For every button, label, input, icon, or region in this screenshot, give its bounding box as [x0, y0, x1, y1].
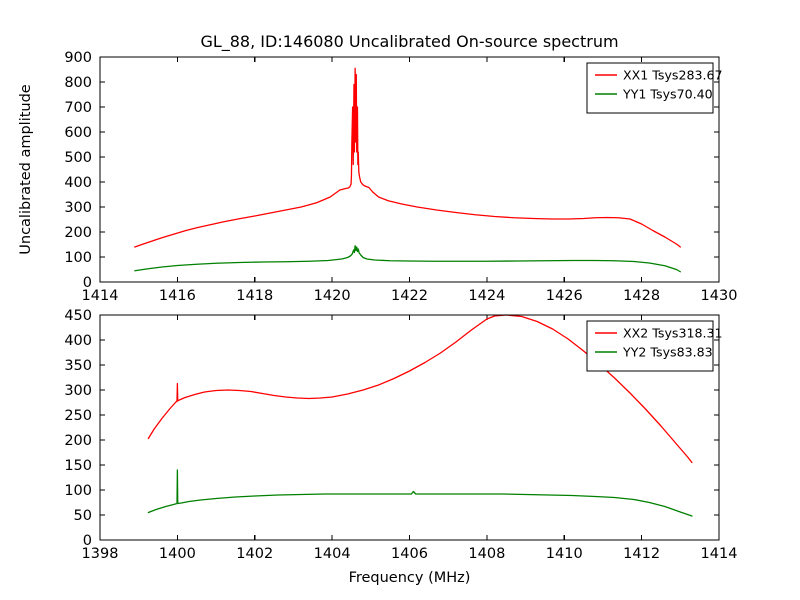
y-tick-label: 450 [64, 308, 92, 324]
x-axis-label: Frequency (MHz) [349, 570, 471, 586]
y-tick-label: 900 [64, 50, 92, 66]
x-tick-label: 1418 [236, 288, 273, 304]
legend-label: YY1 Tsys70.40 [622, 87, 713, 102]
legend-label: YY2 Tsys83.83 [622, 345, 713, 360]
x-tick-label: 1428 [623, 288, 660, 304]
top-panel-legend[interactable]: XX1 Tsys283.67YY1 Tsys70.40 [587, 63, 723, 113]
x-tick-label: 1406 [391, 546, 428, 562]
y-tick-label: 200 [64, 225, 92, 241]
y-tick-label: 300 [64, 200, 92, 216]
x-tick-label: 1410 [546, 546, 583, 562]
x-tick-label: 1400 [159, 546, 196, 562]
y-tick-label: 400 [64, 333, 92, 349]
x-tick-label: 1422 [391, 288, 428, 304]
y-tick-label: 500 [64, 150, 92, 166]
figure-canvas: GL_88, ID:146080 Uncalibrated On-source … [0, 0, 800, 600]
y-tick-label: 350 [64, 358, 92, 374]
legend-label: XX2 Tsys318.31 [623, 326, 723, 341]
x-tick-label: 1430 [701, 288, 738, 304]
y-tick-label: 0 [83, 275, 92, 291]
spectrum-figure: GL_88, ID:146080 Uncalibrated On-source … [0, 0, 800, 600]
x-tick-label: 1424 [468, 288, 505, 304]
y-tick-label: 0 [83, 533, 92, 549]
y-tick-label: 250 [64, 408, 92, 424]
bottom-panel-legend[interactable]: XX2 Tsys318.31YY2 Tsys83.83 [587, 321, 723, 371]
x-tick-label: 1414 [701, 546, 738, 562]
y-tick-label: 150 [64, 458, 92, 474]
y-tick-label: 600 [64, 125, 92, 141]
legend-label: XX1 Tsys283.67 [623, 68, 723, 83]
x-tick-label: 1420 [314, 288, 351, 304]
x-tick-label: 1426 [546, 288, 583, 304]
y-tick-label: 800 [64, 75, 92, 91]
x-tick-label: 1402 [236, 546, 273, 562]
x-tick-label: 1408 [468, 546, 505, 562]
y-tick-label: 200 [64, 433, 92, 449]
x-tick-label: 1404 [314, 546, 351, 562]
y-tick-label: 700 [64, 100, 92, 116]
y-tick-label: 50 [74, 508, 92, 524]
y-tick-label: 400 [64, 175, 92, 191]
page-title: GL_88, ID:146080 Uncalibrated On-source … [200, 32, 618, 52]
x-tick-label: 1416 [159, 288, 196, 304]
x-tick-label: 1412 [623, 546, 660, 562]
y-tick-label: 100 [64, 250, 92, 266]
y-axis-label: Uncalibrated amplitude [18, 84, 34, 255]
y-tick-label: 300 [64, 383, 92, 399]
y-tick-label: 100 [64, 483, 92, 499]
